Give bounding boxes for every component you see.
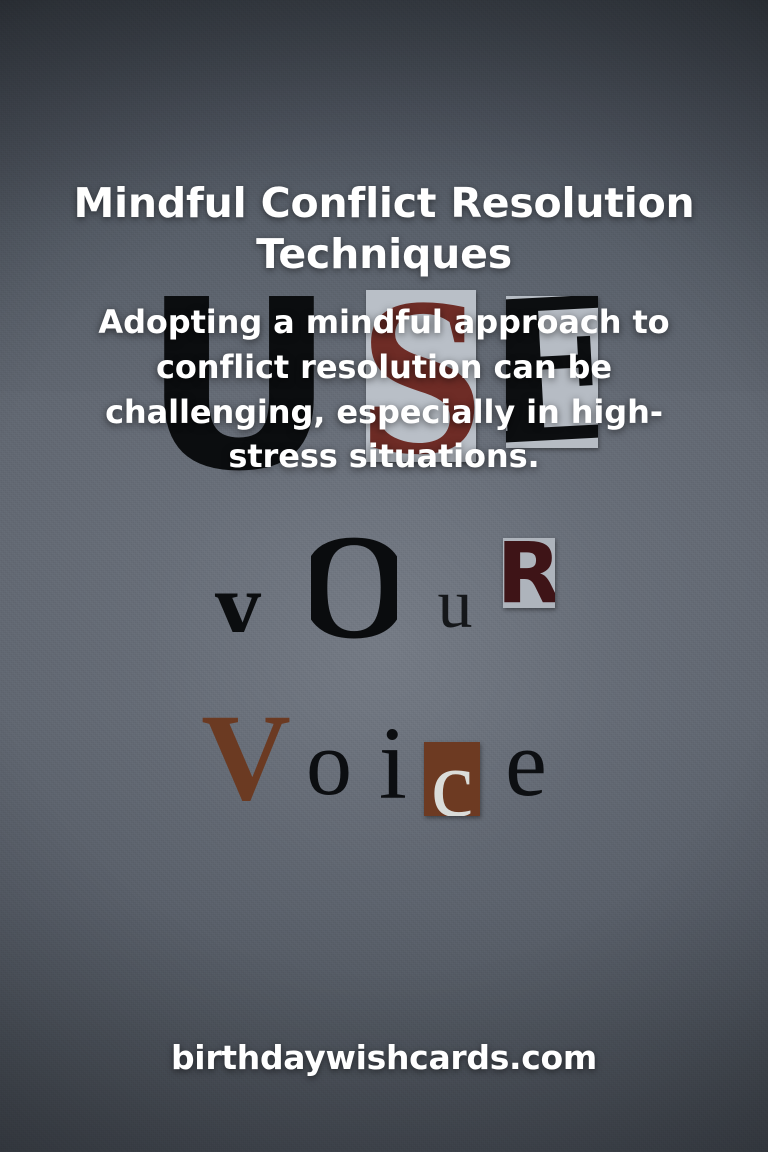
pinterest-pin-image: U S E y O u R V o i c [0, 0, 768, 1152]
site-watermark: birthdaywishcards.com [0, 1038, 768, 1077]
page-subtitle: Adopting a mindful approach to conflict … [70, 300, 698, 479]
text-overlay: Mindful Conflict Resolution Techniques A… [0, 0, 768, 1152]
page-title: Mindful Conflict Resolution Techniques [46, 178, 722, 280]
